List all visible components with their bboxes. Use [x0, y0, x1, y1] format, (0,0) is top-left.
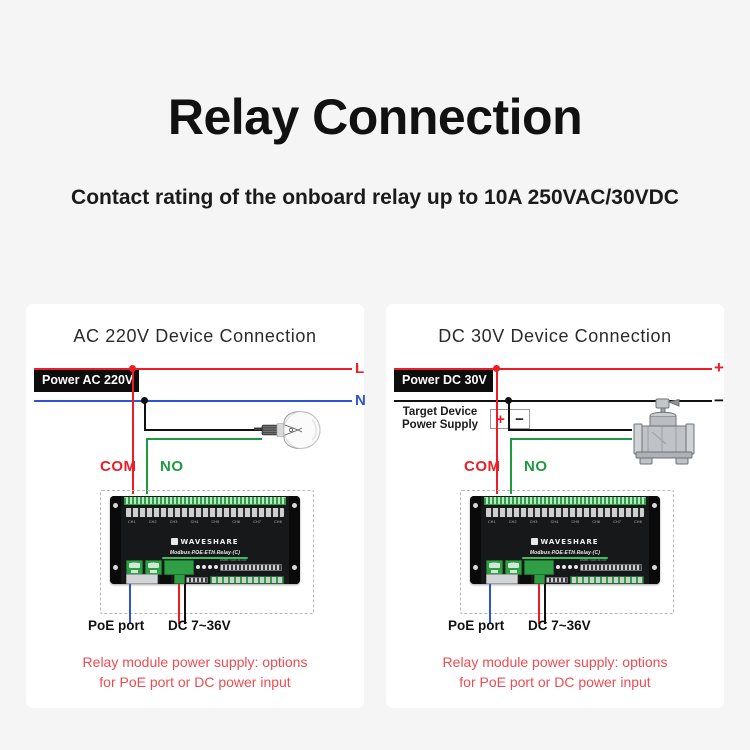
- board-screw: [652, 565, 657, 570]
- channel-label: CH5: [572, 520, 580, 524]
- dc-no-to-load-wire: [510, 438, 632, 440]
- ac-power-note-line1: Relay module power supply: options: [26, 652, 364, 672]
- bottom-terminal-teeth: [212, 577, 282, 583]
- page-title: Relay Connection: [0, 88, 750, 146]
- channel-label: CH7: [613, 520, 621, 524]
- brand-name: WAVESHARE: [540, 538, 598, 546]
- logo-square-icon: [531, 538, 538, 545]
- dc-jack: [520, 575, 531, 584]
- usb-connector: [126, 574, 158, 584]
- dc-schematic: + − Power DC 30V Target Device Power Sup…: [386, 304, 724, 708]
- solenoid-valve-icon: [626, 396, 708, 472]
- status-led: [562, 565, 566, 569]
- ac-com-label: COM: [100, 458, 137, 475]
- dc-screw-terminal: [174, 574, 185, 584]
- config-jumper-header: [186, 577, 208, 583]
- neutral-branch-wire: [144, 400, 146, 430]
- channel-label: CH6: [232, 520, 240, 524]
- target-device-supply-line1: Target Device: [402, 406, 478, 419]
- negative-to-load-wire: [508, 429, 632, 431]
- ac-connection-panel: AC 220V Device Connection L N Power AC 2…: [26, 304, 364, 708]
- ac-poe-port-label: PoE port: [88, 618, 144, 633]
- positive-junction-dot: [493, 365, 500, 372]
- dc-com-wire: [496, 368, 498, 494]
- logo-square-icon: [171, 538, 178, 545]
- dc-power-note-line2: for PoE port or DC power input: [386, 672, 724, 692]
- usb-connector: [486, 574, 518, 584]
- eth-rj45-port[interactable]: ETH: [505, 560, 522, 575]
- board-screw: [473, 503, 478, 508]
- negative-junction-dot: [505, 397, 512, 404]
- channel-label: CH3: [170, 520, 178, 524]
- dc-power-note: Relay module power supply: options for P…: [386, 652, 724, 693]
- status-led-row: [556, 565, 578, 569]
- brand-name: WAVESHARE: [180, 538, 238, 546]
- status-led-row: [196, 565, 218, 569]
- top-terminal-teeth: [126, 497, 284, 504]
- board-model-name: Modbus POE ETH Relay (C): [470, 550, 660, 556]
- board-screw: [292, 565, 297, 570]
- config-jumper-header: [546, 577, 568, 583]
- channel-label: CH8: [634, 520, 642, 524]
- channel-label: CH2: [149, 520, 157, 524]
- status-led: [568, 565, 572, 569]
- negative-branch-wire: [508, 400, 510, 430]
- power-terminal-block: [164, 560, 194, 575]
- board-screw: [292, 503, 297, 508]
- board-model-name: Modbus POE ETH Relay (C): [110, 550, 300, 556]
- header-caption: RS485 / CAN / DI / DO: [580, 559, 606, 562]
- relay-board: CH1 CH2 CH3 CH4 CH5 CH6 CH7 CH8 WAVESHAR…: [110, 496, 300, 584]
- page-subtitle: Contact rating of the onboard relay up t…: [0, 186, 750, 210]
- negative-terminal-label: −: [714, 392, 724, 409]
- dc-dc-input-label: DC 7~36V: [528, 618, 591, 633]
- channel-label: CH2: [509, 520, 517, 524]
- poe-rj45-port[interactable]: POE: [126, 560, 143, 575]
- positive-terminal-label: +: [714, 359, 724, 376]
- no-to-load-wire: [146, 438, 262, 440]
- target-device-supply-line2: Power Supply: [402, 419, 478, 432]
- terminal-screw-row: [126, 508, 284, 517]
- ac-dc-input-label: DC 7~36V: [168, 618, 231, 633]
- light-bulb-icon: [254, 408, 346, 468]
- dc-power-source-label: Power DC 30V: [394, 370, 493, 392]
- dc-no-wire: [510, 438, 512, 494]
- neutral-to-load-wire: [144, 429, 262, 431]
- dc-connection-panel: DC 30V Device Connection + − Power DC 30…: [386, 304, 724, 708]
- channel-label-row: CH1 CH2 CH3 CH4 CH5 CH6 CH7 CH8: [488, 520, 642, 524]
- polarity-minus-label: −: [515, 412, 524, 427]
- board-screw: [652, 503, 657, 508]
- dc-jack: [160, 575, 171, 584]
- waveshare-logo-mark: WAVESHARE: [171, 538, 238, 546]
- top-terminal-teeth: [486, 497, 644, 504]
- channel-label: CH5: [212, 520, 220, 524]
- board-screw: [113, 565, 118, 570]
- relay-connection-infographic: Relay Connection Contact rating of the o…: [0, 0, 750, 750]
- ac-power-note-line2: for PoE port or DC power input: [26, 672, 364, 692]
- status-led: [202, 565, 206, 569]
- channel-label: CH4: [191, 520, 199, 524]
- header-caption: RS485 / CAN / DI / DO: [220, 559, 246, 562]
- live-terminal-label: L: [355, 361, 364, 376]
- neutral-terminal-label: N: [355, 393, 366, 408]
- channel-label: CH7: [253, 520, 261, 524]
- channel-label-row: CH1 CH2 CH3 CH4 CH5 CH6 CH7 CH8: [128, 520, 282, 524]
- neutral-wire: [34, 400, 352, 402]
- status-led: [196, 565, 200, 569]
- waveshare-logo-mark: WAVESHARE: [531, 538, 598, 546]
- relay-board: CH1 CH2 CH3 CH4 CH5 CH6 CH7 CH8 WAVESHAR…: [470, 496, 660, 584]
- ac-power-source-label: Power AC 220V: [34, 370, 139, 392]
- io-pin-header: [220, 564, 282, 571]
- channel-label: CH6: [592, 520, 600, 524]
- target-device-supply-label: Target Device Power Supply: [402, 406, 478, 432]
- no-wire: [146, 438, 148, 494]
- dc-screw-terminal: [534, 574, 545, 584]
- terminal-screw-row: [486, 508, 644, 517]
- ac-no-label: NO: [160, 458, 184, 475]
- channel-label: CH1: [128, 520, 136, 524]
- channel-label: CH3: [530, 520, 538, 524]
- dc-com-label: COM: [464, 458, 501, 475]
- dc-poe-port-label: PoE port: [448, 618, 504, 633]
- io-pin-header: [580, 564, 642, 571]
- com-wire: [132, 368, 134, 494]
- live-junction-dot: [129, 365, 136, 372]
- ac-power-note: Relay module power supply: options for P…: [26, 652, 364, 693]
- eth-rj45-port[interactable]: ETH: [145, 560, 162, 575]
- power-terminal-block: [524, 560, 554, 575]
- status-led: [556, 565, 560, 569]
- dc-no-label: NO: [524, 458, 548, 475]
- channel-label: CH4: [551, 520, 559, 524]
- channel-label: CH8: [274, 520, 282, 524]
- board-screw: [113, 503, 118, 508]
- neutral-junction-dot: [141, 397, 148, 404]
- dc-power-note-line1: Relay module power supply: options: [386, 652, 724, 672]
- status-led: [214, 565, 218, 569]
- status-led: [574, 565, 578, 569]
- status-led: [208, 565, 212, 569]
- board-screw: [473, 565, 478, 570]
- ac-schematic: L N Power AC 220V: [26, 304, 364, 708]
- poe-rj45-port[interactable]: POE: [486, 560, 503, 575]
- bottom-terminal-teeth: [572, 577, 642, 583]
- channel-label: CH1: [488, 520, 496, 524]
